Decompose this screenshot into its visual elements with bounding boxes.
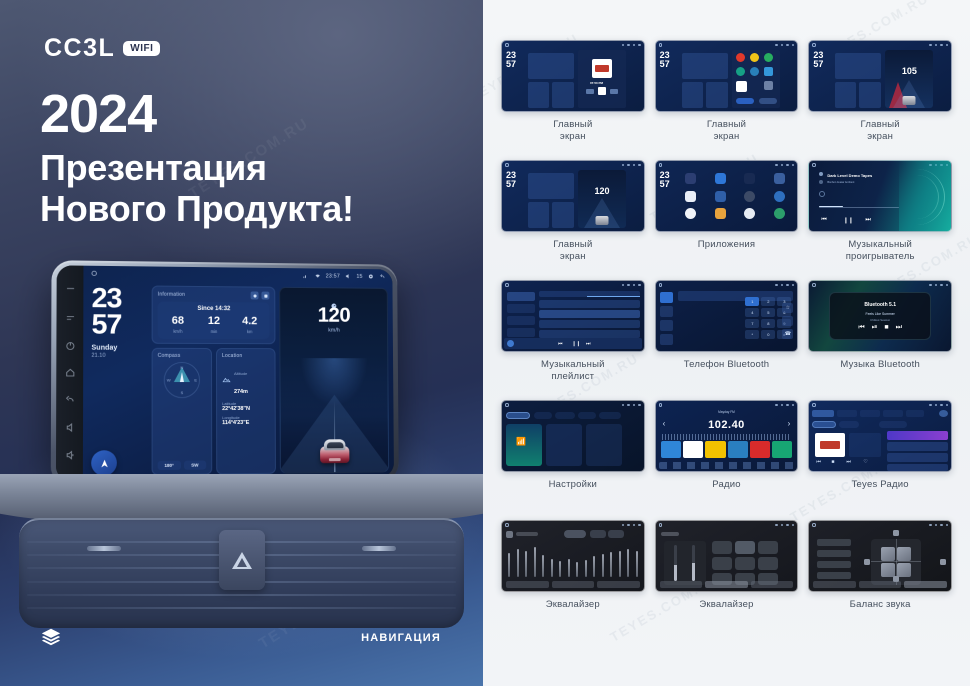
radio-frequency: 102.40 [708,419,745,431]
gallery-caption: Эквалайзер [546,599,600,611]
bluetooth-version: Bluetooth 5.1 [830,302,930,308]
next-icon[interactable] [64,313,75,324]
altitude-row: Altitude 274m [222,362,270,398]
clock-minutes: 57 [88,311,147,337]
radio-next-icon[interactable]: › [788,419,791,428]
thumbnail-apps[interactable]: 2357 [655,160,799,232]
thumbnail-radio[interactable]: Mayday FM 102.40 ‹ › [655,400,799,472]
gear-icon[interactable] [367,273,374,280]
information-header: Information [158,291,270,300]
gallery-caption: Приложения [698,239,756,251]
clock-day: Sunday [88,344,147,351]
gallery-item[interactable]: 📶 Настройки [501,400,645,520]
thumb-speed-value: 120 [594,186,609,196]
player-artist: Bonbon Avatar Ambient [827,181,854,184]
balance-up-arrow[interactable] [893,530,899,536]
location-title: Location [222,353,270,359]
information-card[interactable]: Information Since 14:32 [152,286,276,344]
bluetooth-controls[interactable]: ⏮ ⏯ ■ ⏭ [830,324,930,331]
navigation-arrow-icon[interactable] [91,450,117,476]
latitude-value: 22°42'38"N [222,405,270,411]
gallery-caption: Радио [712,479,740,491]
radio-band: Mayday FM [718,410,735,414]
gallery-item[interactable]: 2357 Главный экран [655,40,799,160]
vol-down-icon[interactable] [64,422,75,433]
location-card[interactable]: Location Altitude 274m [216,347,276,474]
stat-item: 4.2 km [232,316,268,334]
home-icon[interactable] [64,367,75,378]
screenshot-grid: 2357 07:50 PM Главный экран [483,0,970,686]
mountain-icon [222,370,231,388]
radio-prev-icon[interactable]: ‹ [663,419,666,428]
thumbnail-sound-balance[interactable] [808,520,952,592]
dialpad-key[interactable]: 2 [761,297,775,306]
thumbnail-home-music[interactable]: 2357 07:50 PM [501,40,645,112]
gallery-item[interactable]: 2357 [655,160,799,280]
stat-value: 12 [196,316,232,327]
stat-item: 68 km/h [160,316,196,334]
thumbnail-playlist[interactable]: ⏮ ❙❙ ⏭ [501,280,645,352]
presentation-slide: TEYES.COM.RU TEYES.COM.RU TEYES.COM.RU C… [0,0,970,686]
radio-presets[interactable] [661,441,793,458]
stop-icon[interactable]: ■ [884,324,888,331]
balance-left-arrow[interactable] [864,559,870,565]
compass-n: N [180,364,183,369]
balance-speakers[interactable] [881,547,911,577]
gallery-caption: Телефон Bluetooth [684,359,770,371]
widgets-row: Compass N E S W [152,347,276,475]
thumbnail-equalizer[interactable] [501,520,645,592]
longitude-row: Longitude 114°4'23"E [222,414,270,425]
thumbnail-home-speed2[interactable]: 2357 120 [501,160,645,232]
stat-unit: km/h [160,328,196,333]
thumbnail-home-apps[interactable]: 2357 [655,40,799,112]
gallery-item[interactable]: Эквалайзер [501,520,645,640]
stat-item: 12 min [196,316,232,334]
gallery-caption: Главный экран [707,119,746,143]
thumbnail-equalizer-presets[interactable] [655,520,799,592]
bluetooth-artist: Chillout Session [830,318,930,322]
car-dashboard [0,474,483,686]
head-unit-inner: 23:57 15 [56,265,394,481]
prev-icon[interactable]: ⏮ [858,324,864,331]
speed-unit: km/h [328,328,340,334]
balance-right-arrow[interactable] [940,559,946,565]
gallery-item[interactable]: ⏮ ❙❙ ⏭ Музыкальный плейлист [501,280,645,400]
stat-value: 68 [160,316,196,327]
next-icon[interactable]: ⏭ [896,324,902,331]
bluetooth-track: Feels Like Summer [830,312,930,316]
stat-value: 4.2 [232,316,268,327]
gallery-caption: Главный экран [861,119,900,143]
navigation-label: НАВИГАЦИЯ [361,632,441,644]
longitude-value: 114°4'23"E [222,419,270,425]
gallery-item[interactable]: Баланс звука [808,520,952,640]
dialpad-key[interactable]: 8 [761,319,775,328]
widgets-column: Information Since 14:32 [152,286,276,476]
dialpad-key[interactable]: * [745,330,759,339]
layers-icon [40,626,62,648]
volume-value: 15 [356,273,362,279]
gallery-item[interactable]: Mayday FM 102.40 ‹ › Радио [655,400,799,520]
gallery-item[interactable]: ⏮ ■ ⏭ ♡ Teyes Радио [808,400,952,520]
trip-since: Since 14:32 [160,306,268,313]
gallery-item[interactable]: 1 2 3 4 5 6 7 8 9 * 0 # ☆ [655,280,799,400]
compass-direction: SW [184,460,207,469]
gallery-caption: Главный экран [553,119,592,143]
compass-title: Compass [158,352,206,358]
vol-up-icon[interactable] [64,449,75,460]
logo-wifi-badge: WIFI [123,41,160,56]
balance-tabs[interactable] [813,581,947,588]
information-title: Information [158,292,185,298]
clock-widget[interactable]: 23 57 Sunday 21.10 [88,285,148,476]
equalizer-tabs[interactable] [660,581,794,588]
expand-icon[interactable] [261,292,269,300]
refresh-icon[interactable] [251,291,259,299]
stat-unit: min [196,328,232,333]
prev-icon[interactable] [64,286,75,297]
vent-control-left[interactable] [87,546,121,551]
bluetooth-panel: Bluetooth 5.1 Feels Like Summer Chillout… [829,292,931,340]
wifi-icon [314,272,321,279]
thumbnail-bluetooth-phone[interactable]: 1 2 3 4 5 6 7 8 9 * 0 # ☆ [655,280,799,352]
dialpad-key[interactable]: 1 [745,297,759,306]
head-unit-device: 23:57 15 [54,262,402,484]
car-model [320,437,349,463]
car-plate [329,458,341,461]
vent-control-right[interactable] [362,546,396,551]
headline-line2: Нового Продукта! [40,188,354,230]
headline-line1: Презентация [40,147,354,189]
product-logo: CC3L WIFI [44,34,160,63]
compass-w: W [167,377,171,382]
latitude-row: Latitude 22°42'38"N [222,400,270,411]
car-window [326,442,343,448]
back-icon[interactable] [379,273,386,280]
compass-readouts: 180° SW [158,460,206,470]
speed-value: 120 [318,305,351,326]
thumbnail-music-player[interactable]: Dark Level Demo Tapes Bonbon Avatar Ambi… [808,160,952,232]
gallery-caption: Главный экран [553,239,592,263]
gallery-item[interactable]: Эквалайзер [655,520,799,640]
headline-year: 2024 [40,86,354,143]
compass-dial: N E S W [164,361,200,397]
app-grid [678,173,793,223]
equalizer-tabs[interactable] [506,581,640,588]
status-time: 23:57 [326,273,340,279]
gallery-caption: Настройки [549,479,597,491]
dialpad-key[interactable]: 4 [745,308,759,317]
play-pause-icon[interactable]: ⏯ [872,324,878,331]
gallery-item[interactable]: 2357 105 Главный экран [808,40,952,160]
home-screen-body: 23 57 Sunday 21.10 [83,281,394,481]
gallery-caption: Teyes Радио [852,479,909,491]
volume-icon[interactable] [345,273,352,280]
hero-panel: TEYES.COM.RU TEYES.COM.RU TEYES.COM.RU C… [0,0,483,686]
compass-e: E [194,377,197,382]
gallery-caption: Музыка Bluetooth [840,359,920,371]
gallery-caption: Музыкальный плейлист [541,359,605,383]
hazard-triangle-icon [232,552,252,569]
compass-heading: 180° [158,461,181,470]
dialpad-key[interactable]: 0 [761,330,775,339]
gallery-item[interactable]: Dark Level Demo Tapes Bonbon Avatar Ambi… [808,160,952,280]
compass-s: S [181,390,184,395]
hazard-light-button[interactable] [219,530,265,590]
compass-needle [180,371,184,381]
back-icon[interactable] [64,395,75,406]
screenshot-gallery-panel: TEYES.COM.RU TEYES.COM.RU TEYES.COM.RU T… [483,0,970,686]
headline: 2024 Презентация Нового Продукта! [40,86,354,230]
gallery-caption: Музыкальный проигрыватель [846,239,915,263]
information-actions [251,291,270,299]
altitude-value: 274m [234,388,248,394]
equalizer-sliders[interactable] [508,537,638,577]
compass-card[interactable]: Compass N E S W [152,347,213,475]
thumb-speed-value: 105 [902,66,917,76]
trip-stats: 68 km/h 12 min [160,316,268,334]
logo-model: CC3L [44,34,115,63]
clock-date: 21.10 [88,352,147,358]
gallery-item[interactable]: 2357 07:50 PM Главный экран [501,40,645,160]
thumbnail-settings[interactable]: 📶 [501,400,645,472]
hardware-button-strip [56,265,84,481]
gallery-item[interactable]: Bluetooth 5.1 Feels Like Summer Chillout… [808,280,952,400]
thumbnail-teyes-radio[interactable]: ⏮ ■ ⏭ ♡ [808,400,952,472]
gallery-item[interactable]: 2357 120 Главный экран [501,160,645,280]
player-track: Dark Level Demo Tapes [827,173,872,178]
gallery-caption: Баланс звука [850,599,911,611]
power-icon[interactable] [64,340,75,351]
home-icon[interactable] [91,270,98,277]
speed-widget[interactable]: 120 km/h [279,287,389,474]
signal-icon [302,272,309,279]
gallery-caption: Эквалайзер [699,599,753,611]
thumbnail-bluetooth-music[interactable]: Bluetooth 5.1 Feels Like Summer Chillout… [808,280,952,352]
stat-unit: km [232,329,268,334]
head-unit-bezel: 23:57 15 [51,260,399,486]
dialpad-key[interactable]: 5 [761,308,775,317]
head-unit-screen[interactable]: 23:57 15 [83,266,394,481]
thumbnail-home-speed[interactable]: 2357 105 [808,40,952,112]
dialpad-key[interactable]: 7 [745,319,759,328]
information-body: Since 14:32 68 km/h 12 [158,302,270,339]
altitude-label: Altitude [234,371,247,376]
